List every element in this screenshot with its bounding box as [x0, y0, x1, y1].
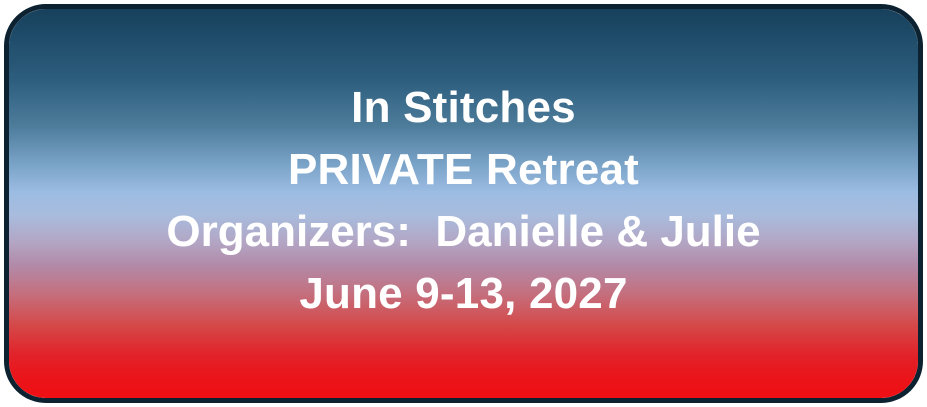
- banner-stage: In Stitches PRIVATE Retreat Organizers: …: [0, 0, 927, 407]
- banner-line-event-dates: June 9-13, 2027: [9, 263, 918, 325]
- banner-line-event-name: In Stitches: [9, 77, 918, 139]
- retreat-banner-card: In Stitches PRIVATE Retreat Organizers: …: [4, 4, 923, 403]
- banner-line-event-type: PRIVATE Retreat: [9, 139, 918, 201]
- banner-line-organizers: Organizers: Danielle & Julie: [9, 201, 918, 263]
- banner-text-block: In Stitches PRIVATE Retreat Organizers: …: [9, 77, 918, 331]
